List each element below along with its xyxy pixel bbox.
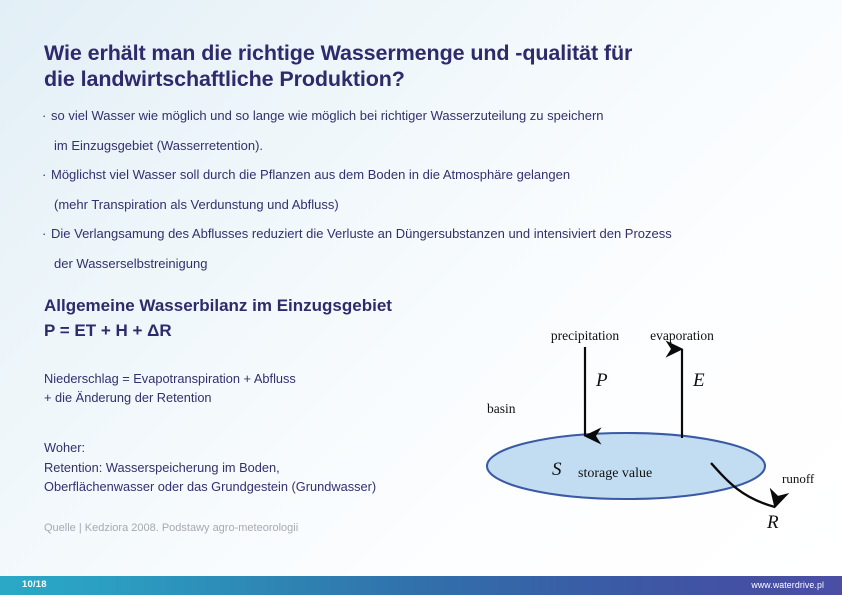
formula-explanation-line-1: Niederschlag = Evapotranspiration + Abfl… <box>44 370 296 389</box>
retention-description: Woher: Retention: Wasserspeicherung im B… <box>44 438 376 497</box>
water-balance-diagram: precipitation evaporation basin runoff s… <box>470 318 842 553</box>
list-item: im Einzugsgebiet (Wasserretention). <box>42 139 782 169</box>
symbol-r-label: R <box>766 512 779 533</box>
runoff-label: runoff <box>782 471 815 486</box>
section-heading-text: Allgemeine Wasserbilanz im Einzugsgebiet <box>44 293 392 318</box>
slide-canvas: Wie erhält man die richtige Wassermenge … <box>0 0 842 595</box>
list-item-text: so viel Wasser wie möglich und so lange … <box>51 108 604 123</box>
list-item-text: Die Verlangsamung des Abflusses reduzier… <box>51 226 672 241</box>
formula-explanation: Niederschlag = Evapotranspiration + Abfl… <box>44 370 296 407</box>
bullet-list: ·so viel Wasser wie möglich und so lange… <box>42 109 782 286</box>
source-citation: Quelle | Kedziora 2008. Podstawy agro-me… <box>44 521 298 535</box>
basin-label: basin <box>487 401 516 416</box>
page-number: 10/18 <box>22 579 47 590</box>
bullet-marker: · <box>42 109 51 123</box>
retention-line-1: Retention: Wasserspeicherung im Boden, <box>44 458 376 478</box>
symbol-e-label: E <box>692 370 705 391</box>
footer-bar: 10/18 www.waterdrive.pl <box>0 576 842 595</box>
page-title: Wie erhält man die richtige Wassermenge … <box>44 40 684 92</box>
page-title-line-1: Wie erhält man die richtige Wassermenge … <box>44 40 684 66</box>
list-item: ·so viel Wasser wie möglich und so lange… <box>42 109 782 139</box>
precipitation-label: precipitation <box>551 328 619 343</box>
list-item-text: (mehr Transpiration als Verdunstung und … <box>54 197 339 212</box>
bullet-marker: · <box>42 227 51 241</box>
page-title-line-2: die landwirtschaftliche Produktion? <box>44 66 684 92</box>
website-url[interactable]: www.waterdrive.pl <box>751 580 824 590</box>
list-item: (mehr Transpiration als Verdunstung und … <box>42 198 782 228</box>
retention-line-2: Oberflächenwasser oder das Grundgestein … <box>44 477 376 497</box>
symbol-p-label: P <box>595 370 608 391</box>
evaporation-label: evaporation <box>650 328 714 343</box>
list-item: der Wasserselbstreinigung <box>42 257 782 287</box>
list-item: ·Möglichst viel Wasser soll durch die Pf… <box>42 168 782 198</box>
water-balance-formula: P = ET + H + ΔR <box>44 318 392 343</box>
list-item-text: im Einzugsgebiet (Wasserretention). <box>54 138 263 153</box>
list-item-text: der Wasserselbstreinigung <box>54 256 207 271</box>
list-item: ·Die Verlangsamung des Abflusses reduzie… <box>42 227 782 257</box>
list-item-text: Möglichst viel Wasser soll durch die Pfl… <box>51 167 570 182</box>
woher-label: Woher: <box>44 438 376 458</box>
formula-explanation-line-2: + die Änderung der Retention <box>44 389 296 408</box>
symbol-s-label: S <box>552 459 562 480</box>
storage-value-label: storage value <box>578 466 652 481</box>
section-heading: Allgemeine Wasserbilanz im Einzugsgebiet… <box>44 293 392 343</box>
bullet-marker: · <box>42 168 51 182</box>
